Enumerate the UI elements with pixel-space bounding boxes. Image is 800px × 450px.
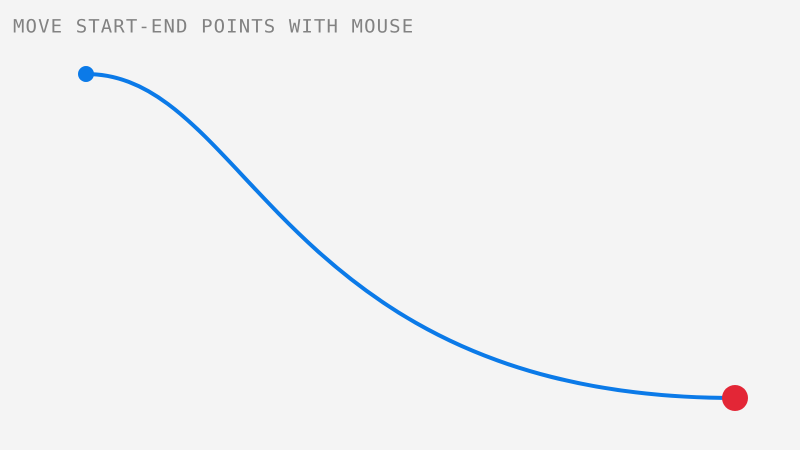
start-point-drag-target[interactable]	[66, 54, 106, 94]
bezier-curve	[86, 74, 735, 398]
app-root: MOVE START-END POINTS WITH MOUSE	[0, 0, 800, 450]
end-point-drag-target[interactable]	[711, 374, 759, 422]
curve-canvas[interactable]	[0, 0, 800, 450]
